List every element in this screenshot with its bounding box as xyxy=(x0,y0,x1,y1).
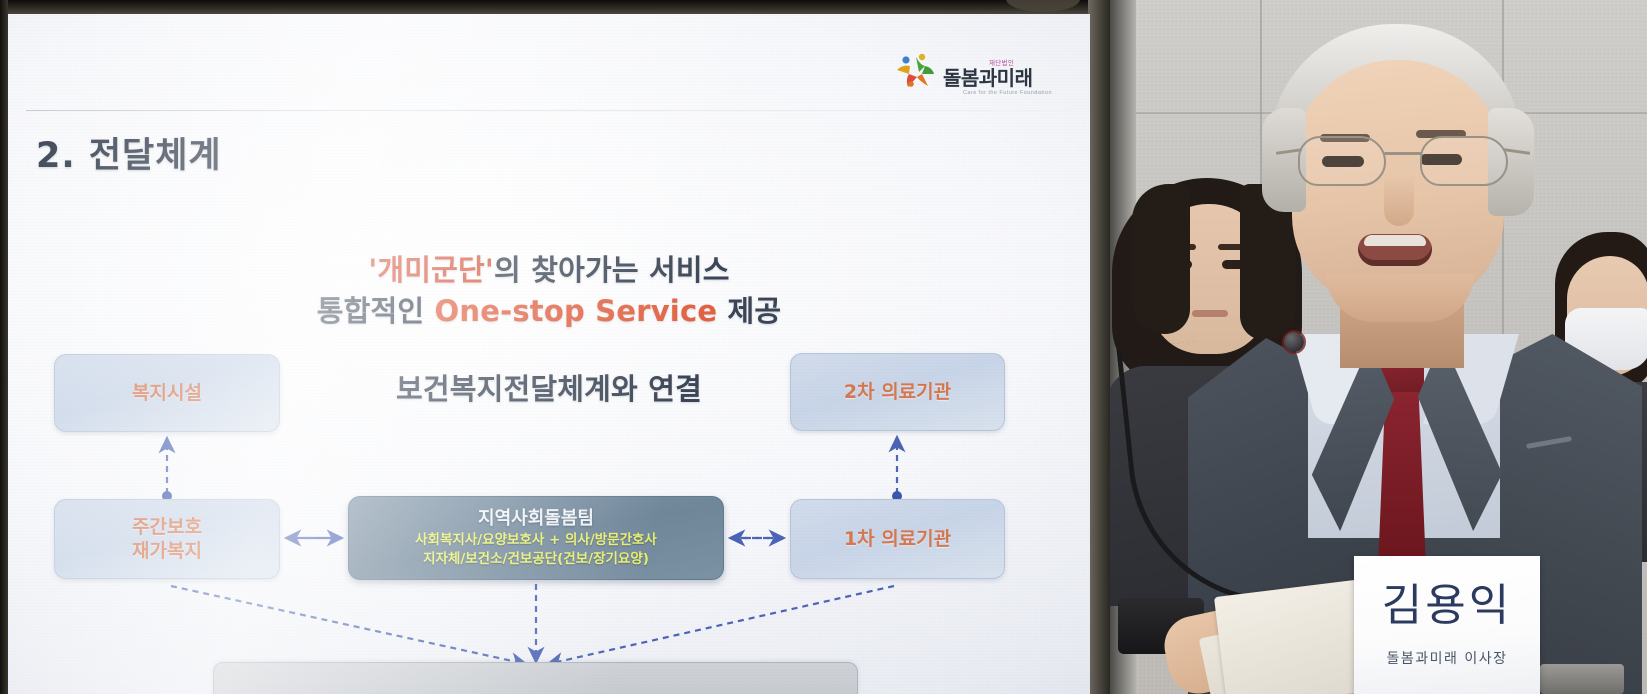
nameplate-holder xyxy=(1540,664,1624,694)
screen-bezel-left xyxy=(0,0,8,694)
header-divider xyxy=(26,110,1068,111)
speaker-nameplate: 김용익 돌봄과미래 이사장 xyxy=(1354,556,1540,694)
node-daycare-label-1: 주간보호 xyxy=(132,515,202,539)
headline-accent-one-stop-service: One-stop Service xyxy=(435,294,718,328)
microphone-gooseneck xyxy=(1116,332,1313,618)
presentation-slide: 재단법인 돌봄과미래 Care for the Future Foundatio… xyxy=(8,14,1090,694)
headline-accent-ant-corps: '개미군단' xyxy=(368,253,494,287)
nameplate-name: 김용익 xyxy=(1382,584,1512,628)
logo-wordmark-group: 재단법인 돌봄과미래 Care for the Future Foundatio… xyxy=(943,61,1052,97)
logo-tagline: Care for the Future Foundation xyxy=(963,90,1052,96)
headline-line-2-prefix: 통합적인 xyxy=(317,294,435,328)
node-primary-medical-institution[interactable]: 1차 의료기관 xyxy=(790,499,1005,579)
node-community-team-sub-1: 사회복지사/요양보호사 + 의사/방문간호사 xyxy=(415,531,657,550)
headline-line-2: 통합적인 One-stop Service 제공 xyxy=(8,291,1090,332)
headline-line-1-rest: 의 찾아가는 서비스 xyxy=(494,253,730,287)
headline-line-2-suffix: 제공 xyxy=(717,294,781,328)
eyeglass-lens-left xyxy=(1298,136,1386,186)
slide-headline-block: '개미군단'의 찾아가는 서비스 통합적인 One-stop Service 제… xyxy=(8,250,1090,332)
attendee-left-hair-front-l xyxy=(1132,184,1190,334)
projected-slide-pane: 재단법인 돌봄과미래 Care for the Future Foundatio… xyxy=(0,0,1110,694)
logo-wordmark: 돌봄과미래 xyxy=(943,68,1033,88)
node-welfare-facility[interactable]: 복지시설 xyxy=(54,354,280,432)
microphone-capsule xyxy=(1284,332,1304,352)
node-daycare-home-welfare[interactable]: 주간보호 재가복지 xyxy=(54,499,280,579)
screenshot-root: 재단법인 돌봄과미래 Care for the Future Foundatio… xyxy=(0,0,1647,694)
node-community-team-sub-2: 지자체/보건소/건보공단(건보/장기요양) xyxy=(423,550,649,569)
headline-line-1: '개미군단'의 찾아가는 서비스 xyxy=(8,250,1090,291)
node-primary-label: 1차 의료기관 xyxy=(844,527,951,551)
screen-bezel-right xyxy=(1088,0,1110,694)
node-welfare-facility-label: 복지시설 xyxy=(132,381,202,405)
node-community-team-title: 지역사회돌봄팀 xyxy=(478,508,594,530)
nameplate-role: 돌봄과미래 이사장 xyxy=(1387,648,1508,668)
eyeglass-lens-right xyxy=(1420,136,1508,186)
node-daycare-label-2: 재가복지 xyxy=(132,539,202,563)
node-secondary-label: 2차 의료기관 xyxy=(844,380,951,404)
eyeglass-bridge xyxy=(1384,152,1422,155)
star-person-logo-icon xyxy=(892,50,938,96)
foundation-logo: 재단법인 돌봄과미래 Care for the Future Foundatio… xyxy=(892,50,1052,96)
speaker-teeth xyxy=(1364,235,1426,246)
slide-title: 2. 전달체계 xyxy=(36,127,222,178)
node-community-care-team[interactable]: 지역사회돌봄팀 사회복지사/요양보호사 + 의사/방문간호사 지자체/보건소/건… xyxy=(348,496,724,580)
node-secondary-medical-institution[interactable]: 2차 의료기관 xyxy=(790,353,1005,431)
node-bottom-partial[interactable] xyxy=(213,662,858,694)
speaker-nose xyxy=(1384,174,1414,226)
press-photo-pane: 김용익 돌봄과미래 이사장 xyxy=(1110,0,1647,694)
